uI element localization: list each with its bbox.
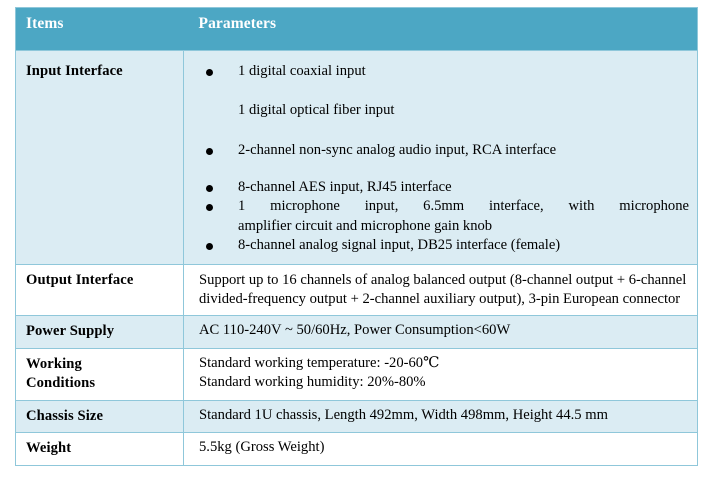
bullet-text-line-2: amplifier circuit and microphone gain kn… [238,217,689,236]
row-value-chassis-size: Standard 1U chassis, Length 492mm, Width… [184,400,698,432]
table-row-working-conditions: Working Conditions Standard working temp… [16,348,698,400]
row-label-power-supply: Power Supply [16,316,184,348]
bullet-dot-icon [206,148,213,155]
bullet-dot-icon [206,69,213,76]
row-label-line-2: Conditions [26,374,179,393]
list-item: 1 digital coaxial input [199,62,689,81]
table-header: Items Parameters [16,8,698,51]
column-header-items: Items [16,8,184,51]
row-label-input-interface: Input Interface [16,50,184,264]
table-body: Input Interface 1 digital coaxial input … [16,50,698,465]
value-text-humidity: Standard working humidity: 20%-80% [199,373,689,392]
list-item: 1 microphone input, 6.5mm interface, wit… [199,197,689,236]
bullet-text: 8-channel analog signal input, DB25 inte… [238,237,560,253]
bullet-dot-icon [206,185,213,192]
table-row-input-interface: Input Interface 1 digital coaxial input … [16,50,698,264]
table-row-chassis-size: Chassis Size Standard 1U chassis, Length… [16,400,698,432]
value-text: Standard 1U chassis, Length 492mm, Width… [199,406,689,425]
value-text-temperature: Standard working temperature: -20-60℃ [199,354,689,373]
list-item: 8-channel AES input, RJ45 interface [199,178,689,197]
row-label-output-interface: Output Interface [16,264,184,316]
table-row-output-interface: Output Interface Support up to 16 channe… [16,264,698,316]
row-value-output-interface: Support up to 16 channels of analog bala… [184,264,698,316]
row-value-power-supply: AC 110-240V ~ 50/60Hz, Power Consumption… [184,316,698,348]
bullet-text: 1 digital coaxial input [238,63,366,79]
bullet-text: 2-channel non-sync analog audio input, R… [238,142,556,158]
row-value-working-conditions: Standard working temperature: -20-60℃ St… [184,348,698,400]
bullet-text-line-1: 1 microphone input, 6.5mm interface, wit… [238,197,689,216]
row-label-working-conditions: Working Conditions [16,348,184,400]
table-row-weight: Weight 5.5kg (Gross Weight) [16,433,698,465]
value-text: Support up to 16 channels of analog bala… [199,271,689,310]
bullet-dot-icon [206,243,213,250]
list-item: 8-channel analog signal input, DB25 inte… [199,236,689,255]
row-label-line-1: Working [26,355,179,374]
specification-table-container: Items Parameters Input Interface 1 digit… [15,7,697,466]
list-item: 2-channel non-sync analog audio input, R… [199,141,689,160]
table-header-row: Items Parameters [16,8,698,51]
row-label-chassis-size: Chassis Size [16,400,184,432]
table-row-power-supply: Power Supply AC 110-240V ~ 50/60Hz, Powe… [16,316,698,348]
column-header-parameters: Parameters [184,8,698,51]
bullet-text: 8-channel AES input, RJ45 interface [238,179,452,195]
list-item: 1 digital optical fiber input [199,101,689,120]
row-value-weight: 5.5kg (Gross Weight) [184,433,698,465]
value-text: AC 110-240V ~ 50/60Hz, Power Consumption… [199,321,689,340]
bullet-dot-icon [206,204,213,211]
bullet-text: 1 digital optical fiber input [238,102,394,118]
value-text: 5.5kg (Gross Weight) [199,438,689,457]
row-value-input-interface: 1 digital coaxial input 1 digital optica… [184,50,698,264]
input-interface-bullet-list: 1 digital coaxial input 1 digital optica… [199,62,689,256]
row-label-weight: Weight [16,433,184,465]
specification-table: Items Parameters Input Interface 1 digit… [15,7,698,466]
